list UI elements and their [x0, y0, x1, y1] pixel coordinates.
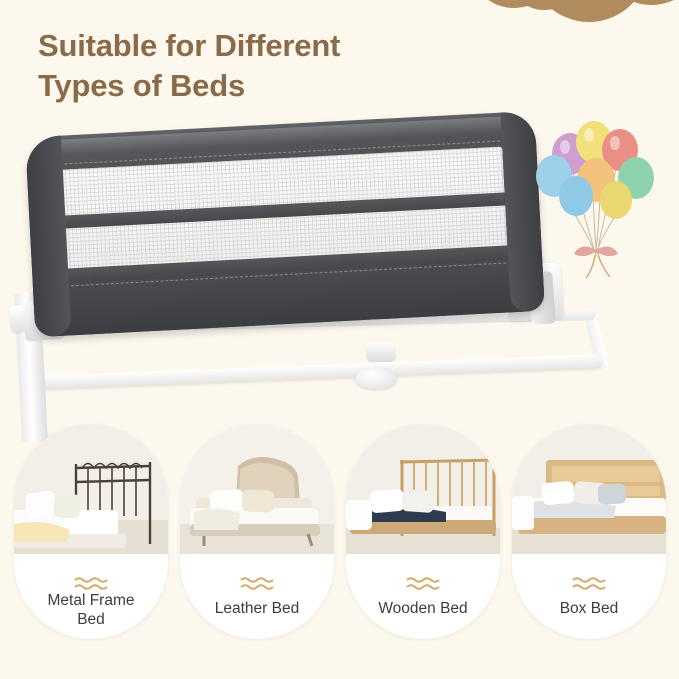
bed-type-caption: Metal Frame Bed	[20, 592, 162, 630]
bed-rail-panel	[25, 111, 545, 337]
box-bed-photo	[512, 424, 666, 554]
bed-type-caption-line-1: Leather Bed	[186, 600, 328, 619]
page-title-line-1: Suitable for Different	[38, 28, 340, 63]
bed-type-caption-line-2: Bed	[20, 611, 162, 630]
adjustment-knob-icon	[355, 367, 397, 389]
wave-divider-icon	[240, 576, 274, 592]
balloon-bunch-icon	[530, 110, 670, 280]
bed-type-caption: Box Bed	[518, 600, 660, 619]
wave-divider-icon	[406, 576, 440, 592]
bed-type-caption-line-1: Metal Frame	[20, 592, 162, 611]
page-title-line-2: Types of Beds	[38, 66, 508, 106]
center-clamp	[366, 342, 396, 362]
metal-frame-bed-photo	[14, 424, 168, 554]
bed-type-card-list: Metal Frame Bed	[14, 424, 666, 646]
page-title: Suitable for Different Types of Beds	[38, 26, 508, 107]
bed-type-caption: Wooden Bed	[352, 600, 494, 619]
bed-type-card-wooden[interactable]: Wooden Bed	[346, 424, 500, 639]
wave-divider-icon	[572, 576, 606, 592]
bed-type-card-leather[interactable]: Leather Bed	[180, 424, 334, 639]
wooden-bed-photo	[346, 424, 500, 554]
wave-divider-icon	[74, 576, 108, 592]
bed-type-caption-line-1: Box Bed	[518, 600, 660, 619]
bed-type-caption: Leather Bed	[186, 600, 328, 619]
bed-type-card-metal-frame[interactable]: Metal Frame Bed	[14, 424, 168, 639]
bed-type-card-box[interactable]: Box Bed	[512, 424, 666, 639]
base-bar-lower	[32, 354, 602, 389]
bed-type-caption-line-1: Wooden Bed	[352, 600, 494, 619]
leather-bed-photo	[180, 424, 334, 554]
